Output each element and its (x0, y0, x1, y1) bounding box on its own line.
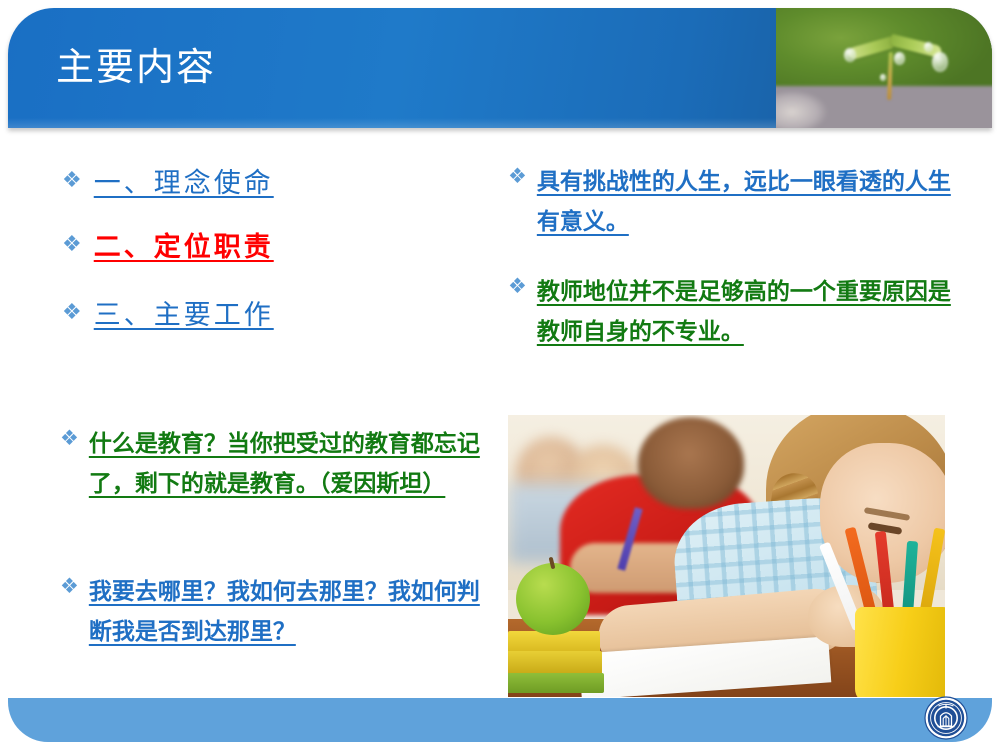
page-title: 主要内容 (56, 8, 216, 128)
diamond-bullet-icon: ❖ (62, 165, 82, 195)
slide-header-bar: 主要内容 (8, 8, 992, 128)
stacked-book (508, 651, 602, 675)
quote-left-2-text: 我要去哪里？我如何去那里？我如何判断我是否到达那里？ (89, 572, 500, 651)
quote-right-2: ❖ 教师地位并不是足够高的一个重要原因是教师自身的不专业。 (508, 272, 960, 351)
sprout-photo-pebbles (776, 86, 992, 128)
quote-right-1-text: 具有挑战性的人生，远比一眼看透的人生有意义。 (537, 162, 960, 241)
diamond-bullet-icon: ❖ (62, 297, 82, 327)
outline-item-2-label: 二、定位职责 (94, 228, 274, 267)
yellow-pencil-cup (855, 607, 945, 697)
diamond-bullet-icon: ❖ (62, 229, 82, 259)
slide-canvas: 主要内容 ❖ 一、理念使命 ❖ 二、定位职责 ❖ 三、主要工作 ❖ 具有挑战性的… (0, 0, 1000, 750)
outline-item-1[interactable]: ❖ 一、理念使命 (62, 164, 274, 203)
pencil-bundle (847, 523, 939, 619)
quote-left-1-text: 什么是教育？当你把受过的教育都忘记了，剩下的就是教育。（爱因斯坦） (89, 424, 500, 503)
diamond-bullet-icon: ❖ (60, 573, 79, 601)
outline-item-3[interactable]: ❖ 三、主要工作 (62, 296, 274, 335)
stacked-book (508, 673, 604, 693)
boy-head (638, 417, 744, 509)
dew-drop (924, 42, 933, 52)
diamond-bullet-icon: ❖ (60, 425, 79, 453)
classroom-photo (508, 415, 945, 697)
quote-left-1: ❖ 什么是教育？当你把受过的教育都忘记了，剩下的就是教育。（爱因斯坦） (60, 424, 500, 503)
diamond-bullet-icon: ❖ (508, 163, 527, 191)
outline-item-3-label: 三、主要工作 (94, 296, 274, 335)
outline-item-2[interactable]: ❖ 二、定位职责 (62, 228, 274, 267)
sprout-photo (776, 8, 992, 128)
slide-footer-bar (8, 698, 992, 742)
diamond-bullet-icon: ❖ (508, 273, 527, 301)
dew-drop (844, 48, 856, 62)
quote-right-1: ❖ 具有挑战性的人生，远比一眼看透的人生有意义。 (508, 162, 960, 241)
dew-drop (932, 52, 948, 72)
quote-right-2-text: 教师地位并不是足够高的一个重要原因是教师自身的不专业。 (537, 272, 960, 351)
quote-left-2: ❖ 我要去哪里？我如何去那里？我如何判断我是否到达那里？ (60, 572, 500, 651)
outline-item-1-label: 一、理念使命 (94, 164, 274, 203)
dew-drop (894, 52, 905, 65)
dew-drop (880, 74, 886, 81)
university-seal-logo-icon (924, 696, 968, 740)
green-apple (516, 563, 590, 635)
